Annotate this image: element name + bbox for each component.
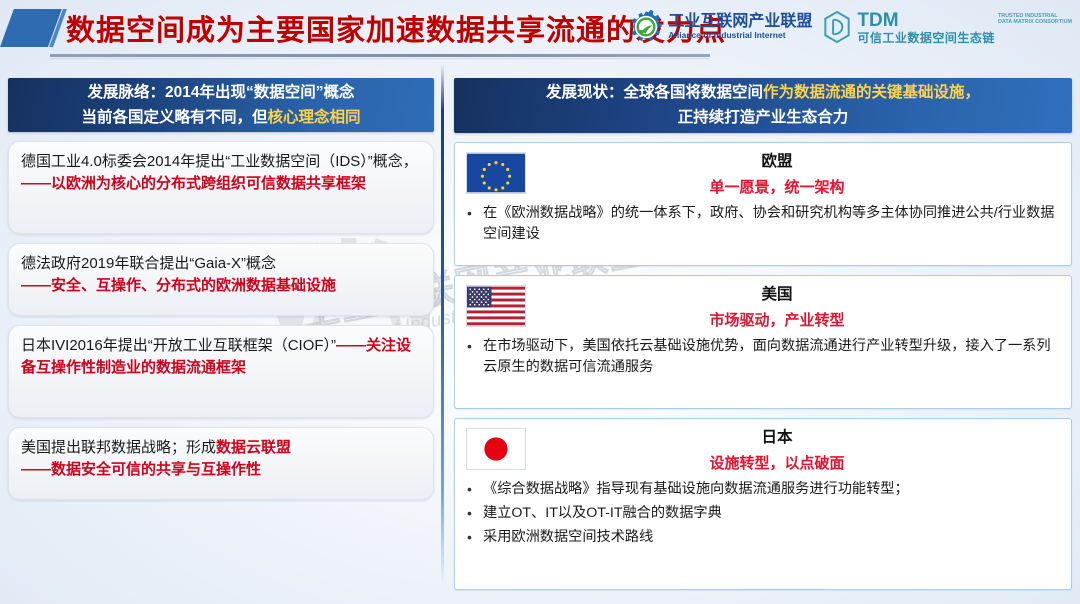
eu-slogan: 单一愿景，统一架构	[535, 176, 1019, 200]
page-title: 数据空间成为主要国家加速数据共享流通的发力点	[66, 7, 726, 49]
usa-card: 美国 市场驱动，产业转型 • 在市场驱动下，美国依托云基础设施优势，面向数据流通…	[454, 275, 1072, 409]
japan-ivi-text-1: 日本IVI2016年提出“开放工业互联框架	[21, 337, 273, 354]
right-header-line2: 正持续打造产业生态合力	[454, 105, 1072, 130]
japan-slogan: 设施转型，以点破面	[535, 452, 1019, 476]
japan-bullet-list: • 《综合数据战略》指导现有基础设施向数据流通服务进行功能转型； • 建立OT、…	[467, 479, 1059, 549]
germany-ids-text-red: ——以欧洲为核心的分布式跨组织可信数据共享框架	[21, 175, 366, 192]
gear-leaf-logo-icon	[629, 10, 663, 44]
gaia-x-card: 德法政府2019年联合提出“Gaia-X”概念 ——安全、互操作、分布式的欧洲数…	[8, 243, 434, 316]
japan-bullet-1: 《综合数据战略》指导现有基础设施向数据流通服务进行功能转型；	[483, 479, 1059, 500]
gaia-x-text-red: ——安全、互操作、分布式的欧洲数据基础设施	[21, 275, 421, 297]
aii-logo: 工业互联网产业联盟 Alliance of Industrial Interne…	[629, 10, 812, 44]
usa-fds-text-red-1: 数据云联盟	[216, 439, 291, 456]
left-header-line2-plain: 当前各国定义略有不同，但	[81, 109, 267, 126]
tdm-logo: TDM 可信工业数据空间生态链 TRUSTED INDUSTRIAL DATA …	[822, 10, 1072, 44]
tdm-logo-abbr: TDM	[857, 11, 995, 30]
usa-country-name: 美国	[535, 284, 1019, 306]
us-flag-icon	[467, 286, 525, 326]
left-header-line1: 发展脉络：2014年出现“数据空间”概念	[8, 80, 434, 105]
list-item: • 采用欧洲数据空间技术路线	[467, 527, 1059, 548]
japan-ivi-ciof-card: 日本IVI2016年提出“开放工业互联框架（CIOF）”——关注设备互操作性制造…	[8, 325, 434, 418]
aii-logo-cn: 工业互联网产业联盟	[668, 14, 812, 30]
left-column: 发展脉络：2014年出现“数据空间”概念 当前各国定义略有不同，但核心理念相同 …	[8, 78, 434, 500]
jp-flag-icon	[467, 429, 525, 469]
right-header-line1: 发展现状：全球各国将数据空间作为数据流通的关键基础设施，	[454, 80, 1072, 105]
bullet-dot-icon: •	[467, 203, 475, 246]
list-item: • 在《欧洲数据战略》的统一体系下，政府、协会和研究机构等多主体协同推进公共/行…	[467, 203, 1059, 246]
left-header-line2: 当前各国定义略有不同，但核心理念相同	[8, 105, 434, 130]
usa-fds-text-red-2: ——数据安全可信的共享与互操作性	[21, 459, 421, 481]
japan-ivi-text-2: （CIOF）”	[273, 337, 336, 354]
bullet-dot-icon: •	[467, 503, 475, 524]
japan-card: 日本 设施转型，以点破面 • 《综合数据战略》指导现有基础设施向数据流通服务进行…	[454, 418, 1072, 590]
eu-card: 欧盟 单一愿景，统一架构 • 在《欧洲数据战略》的统一体系下，政府、协会和研究机…	[454, 142, 1072, 266]
hexagon-tdm-logo-icon	[822, 10, 852, 44]
list-item: • 《综合数据战略》指导现有基础设施向数据流通服务进行功能转型；	[467, 479, 1059, 500]
column-divider	[441, 64, 444, 586]
left-header-line2-highlight: 核心理念相同	[268, 109, 361, 126]
right-column: 发展现状：全球各国将数据空间作为数据流通的关键基础设施， 正持续打造产业生态合力	[454, 78, 1072, 590]
usa-bullet-1: 在市场驱动下，美国依托云基础设施优势，面向数据流通进行产业转型升级，接入了一系列…	[483, 336, 1059, 379]
tdm-logo-sub2: DATA MATRIX CONSORTIUM	[998, 19, 1072, 26]
usa-federal-data-strategy-card: 美国提出联邦数据战略；形成数据云联盟 ——数据安全可信的共享与互操作性	[8, 427, 434, 500]
germany-ids-text-2: （IDS）”概念，	[320, 153, 418, 170]
list-item: • 在市场驱动下，美国依托云基础设施优势，面向数据流通进行产业转型升级，接入了一…	[467, 336, 1059, 379]
usa-slogan: 市场驱动，产业转型	[535, 309, 1019, 333]
germany-ids-text-1: 德国工业4.0标委会2014年提出“工业数据空间	[21, 153, 320, 170]
aii-logo-en: Alliance of Industrial Internet	[668, 31, 812, 40]
title-underline	[50, 54, 710, 57]
title-chevron-decoration	[0, 9, 74, 47]
japan-bullet-2: 建立OT、IT以及OT-IT融合的数据字典	[483, 503, 1059, 524]
title-underline-thin	[50, 58, 710, 59]
japan-bullet-3: 采用欧洲数据空间技术路线	[483, 527, 1059, 548]
germany-ids-card: 德国工业4.0标委会2014年提出“工业数据空间（IDS）”概念，——以欧洲为核…	[8, 141, 434, 234]
usa-fds-text-black: 美国提出联邦数据战略；形成	[21, 439, 216, 456]
eu-bullet-1: 在《欧洲数据战略》的统一体系下，政府、协会和研究机构等多主体协同推进公共/行业数…	[483, 203, 1059, 246]
bullet-dot-icon: •	[467, 336, 475, 379]
bullet-dot-icon: •	[467, 527, 475, 548]
bullet-dot-icon: •	[467, 479, 475, 500]
usa-fds-line1: 美国提出联邦数据战略；形成数据云联盟	[21, 437, 421, 459]
eu-country-name: 欧盟	[535, 151, 1019, 173]
logo-group: 工业互联网产业联盟 Alliance of Industrial Interne…	[629, 6, 1072, 48]
usa-bullet-list: • 在市场驱动下，美国依托云基础设施优势，面向数据流通进行产业转型升级，接入了一…	[467, 336, 1059, 379]
right-header-line1-plain: 发展现状：全球各国将数据空间	[546, 84, 763, 101]
tdm-logo-sub1: TRUSTED INDUSTRIAL	[998, 13, 1072, 20]
right-section-header: 发展现状：全球各国将数据空间作为数据流通的关键基础设施， 正持续打造产业生态合力	[454, 78, 1072, 133]
gaia-x-text-black: 德法政府2019年联合提出“Gaia-X”概念	[21, 253, 421, 275]
eu-bullet-list: • 在《欧洲数据战略》的统一体系下，政府、协会和研究机构等多主体协同推进公共/行…	[467, 203, 1059, 246]
left-section-header: 发展脉络：2014年出现“数据空间”概念 当前各国定义略有不同，但核心理念相同	[8, 78, 434, 132]
tdm-logo-cn: 可信工业数据空间生态链	[857, 32, 995, 44]
japan-country-name: 日本	[535, 427, 1019, 449]
right-header-line1-highlight: 作为数据流通的关键基础设施，	[763, 84, 980, 101]
list-item: • 建立OT、IT以及OT-IT融合的数据字典	[467, 503, 1059, 524]
eu-flag-icon	[467, 153, 525, 193]
